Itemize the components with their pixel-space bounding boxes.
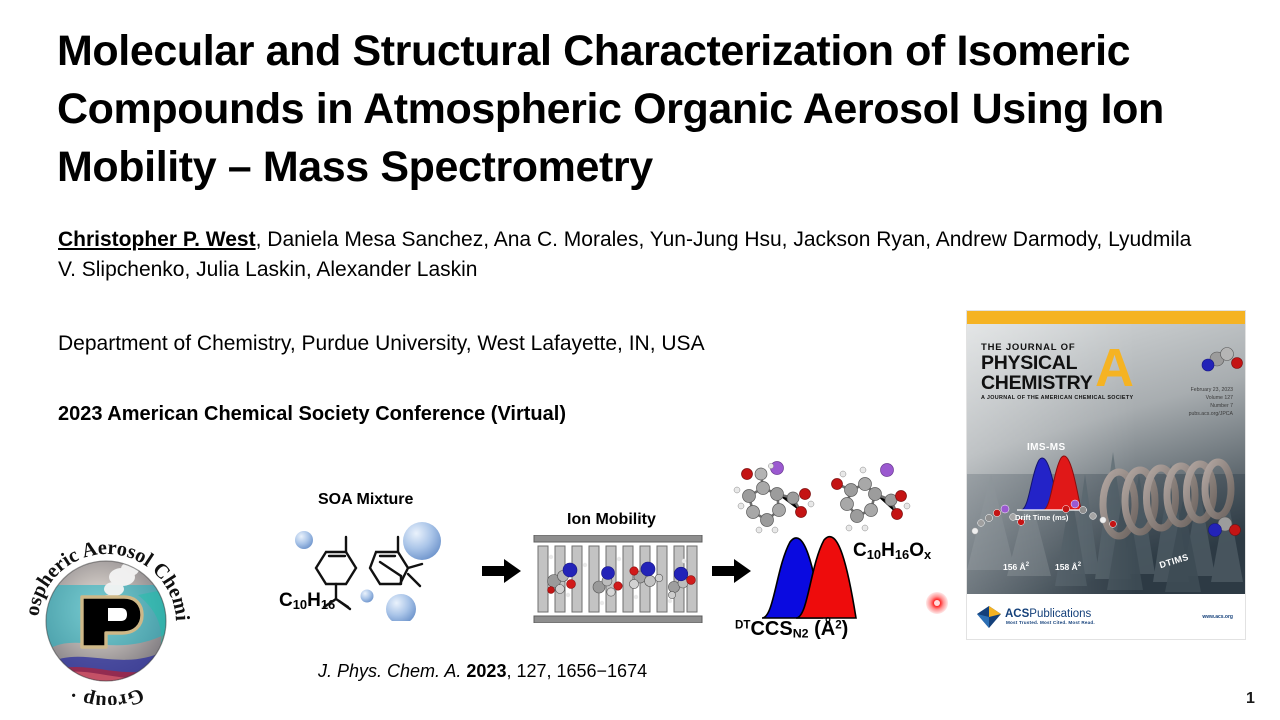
masthead-letter-a: A: [1095, 344, 1134, 392]
ion-mobility-label: Ion Mobility: [567, 511, 656, 529]
cover-drift-time-axis: Drift Time (ms): [1015, 513, 1068, 522]
cover-artwork: THE JOURNAL OF PHYSICAL CHEMISTRY A JOUR…: [967, 324, 1245, 594]
citation-journal: J. Phys. Chem. A.: [318, 661, 461, 681]
presenting-author: Christopher P. West: [58, 228, 256, 251]
ccs-axis-label: DTCCSN2 (Å2): [735, 618, 848, 641]
acs-publications-logo: ACSPublications: [1005, 608, 1091, 620]
journal-cover: THE JOURNAL OF PHYSICAL CHEMISTRY A JOUR…: [967, 311, 1245, 639]
process-arrow-2: [712, 558, 752, 584]
laser-pointer-dot: [926, 592, 948, 614]
issue-volume: Volume 127: [1189, 394, 1233, 402]
acs-tagline: Most Trusted. Most Cited. Most Read.: [1006, 620, 1095, 625]
citation-pages: , 127, 1656−1674: [506, 661, 647, 681]
journal-citation: J. Phys. Chem. A. 2023, 127, 1656−1674: [318, 661, 647, 682]
author-list: Christopher P. West, Daniela Mesa Sanche…: [58, 225, 1198, 285]
cover-top-bar: [967, 311, 1245, 324]
cover-imsms-label: IMS-MS: [1027, 442, 1066, 453]
acs-url: www.acs.org: [1202, 614, 1233, 620]
soa-structures: [270, 506, 485, 626]
slide-title: Molecular and Structural Characterizatio…: [57, 22, 1197, 196]
issue-date: February 23, 2023: [1189, 386, 1233, 394]
issue-url: pubs.acs.org/JPCA: [1189, 410, 1233, 418]
svg-text:Group ·: Group ·: [66, 683, 147, 705]
research-group-logo: Atmospheric Aerosol Chemistry Group ·: [18, 525, 193, 705]
cover-ccs-value-2: 158 Å2: [1055, 562, 1081, 572]
cover-footer: ACSPublications Most Trusted. Most Cited…: [967, 594, 1245, 639]
conference-name: 2023 American Chemical Society Conferenc…: [58, 403, 566, 426]
graphical-abstract: SOA Mixture Ion Mobility C10H16 C10H16Ox: [270, 478, 950, 653]
affiliation: Department of Chemistry, Purdue Universi…: [58, 332, 705, 356]
ion-mobility-drift-cell: [532, 535, 704, 628]
cover-ccs-value-1: 156 Å2: [1003, 562, 1029, 572]
issue-number: Number 7: [1189, 402, 1233, 410]
process-arrow-1: [482, 558, 522, 584]
slide-number: 1: [1246, 690, 1255, 708]
cover-issue-info: February 23, 2023 Volume 127 Number 7 pu…: [1189, 386, 1233, 418]
presentation-slide: Molecular and Structural Characterizatio…: [0, 0, 1280, 720]
citation-year: 2023: [466, 661, 506, 681]
ccs-peak-plot: [760, 528, 870, 625]
